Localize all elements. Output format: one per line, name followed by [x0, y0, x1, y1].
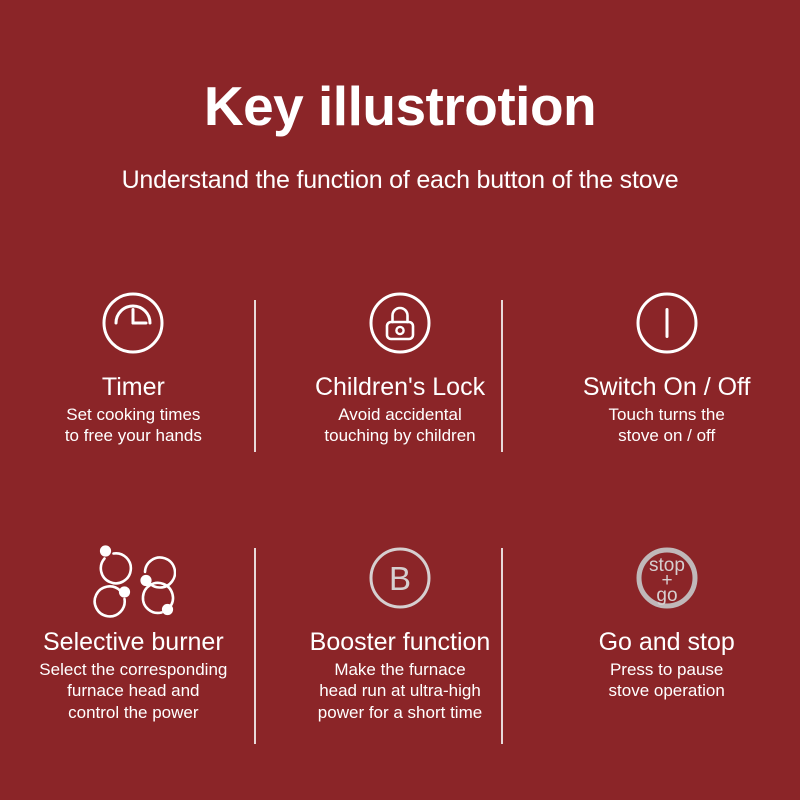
feature-title: Children's Lock [315, 373, 485, 401]
feature-description: Press to pause stove operation [609, 659, 725, 702]
power-on-off-icon [630, 278, 704, 368]
feature-grid: Timer Set cooking times to free your han… [0, 278, 800, 763]
feature-switch-on-off[interactable]: Switch On / Off Touch turns the stove on… [533, 278, 800, 493]
four-burner-zones-icon [90, 533, 176, 623]
feature-description: Avoid accidental touching by children [324, 404, 475, 447]
timer-clock-icon [96, 278, 170, 368]
feature-booster[interactable]: B Booster function Make the furnace head… [267, 533, 534, 763]
feature-description: Set cooking times to free your hands [65, 404, 202, 447]
padlock-icon [363, 278, 437, 368]
page-title: Key illustrotion [0, 78, 800, 136]
feature-title: Go and stop [599, 628, 735, 656]
feature-title: Selective burner [43, 628, 224, 656]
booster-b-icon: B [362, 533, 438, 623]
feature-title: Booster function [310, 628, 491, 656]
svg-text:B: B [389, 560, 411, 597]
feature-title: Timer [102, 373, 165, 401]
feature-description: Make the furnace head run at ultra-high … [318, 659, 482, 723]
go-label: go [656, 585, 677, 606]
feature-go-and-stop[interactable]: stop + go Go and stop Press to pause sto… [533, 533, 800, 763]
feature-timer[interactable]: Timer Set cooking times to free your han… [0, 278, 267, 493]
feature-selective-burner[interactable]: Selective burner Select the correspondin… [0, 533, 267, 763]
feature-description: Select the corresponding furnace head an… [39, 659, 227, 723]
feature-description: Touch turns the stove on / off [609, 404, 725, 447]
header: Key illustrotion Understand the function… [0, 0, 800, 195]
poster-root: Key illustrotion Understand the function… [0, 0, 800, 800]
stop-plus-go-icon: stop + go [629, 533, 705, 623]
feature-children-lock[interactable]: Children's Lock Avoid accidental touchin… [267, 278, 534, 493]
feature-row-2: Selective burner Select the correspondin… [0, 533, 800, 763]
page-subtitle: Understand the function of each button o… [0, 136, 800, 195]
feature-row-1: Timer Set cooking times to free your han… [0, 278, 800, 493]
feature-title: Switch On / Off [583, 373, 751, 401]
